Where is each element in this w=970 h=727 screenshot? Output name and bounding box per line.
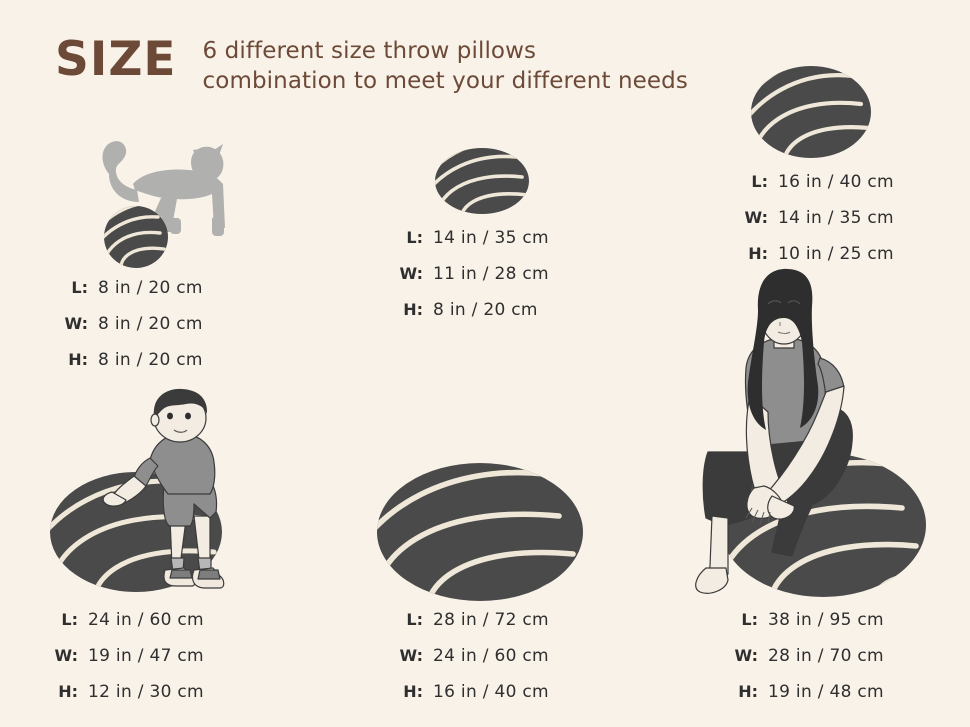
pillow-xl — [375, 460, 590, 605]
specs-xl: L: 28 in / 72 cm W: 24 in / 60 cm H: 16 … — [393, 610, 549, 718]
specs-l: L: 24 in / 60 cm W: 19 in / 47 cm H: 12 … — [48, 610, 204, 718]
spec-value: 8 in / 20 cm — [98, 350, 203, 370]
page-header: SIZE 6 different size throw pillows comb… — [55, 28, 688, 97]
spec-value: 8 in / 20 cm — [433, 300, 538, 320]
specs-xxl: L: 38 in / 95 cm W: 28 in / 70 cm H: 19 … — [728, 610, 884, 718]
specs-s: L: 14 in / 35 cm W: 11 in / 28 cm H: 8 i… — [393, 228, 549, 336]
spec-row: H: 8 in / 20 cm — [393, 300, 549, 320]
spec-row: L: 24 in / 60 cm — [48, 610, 204, 630]
subtitle-line-2: combination to meet your different needs — [203, 66, 688, 96]
pillow-m — [747, 62, 875, 162]
spec-row: W: 14 in / 35 cm — [738, 208, 894, 228]
pillow-xs — [100, 203, 172, 271]
spec-row: W: 28 in / 70 cm — [728, 646, 884, 666]
spec-value: 38 in / 95 cm — [768, 610, 884, 630]
toddler-figure — [110, 400, 235, 595]
spec-row: H: 8 in / 20 cm — [58, 350, 203, 370]
spec-key: L: — [48, 610, 78, 629]
spec-row: L: 14 in / 35 cm — [393, 228, 549, 248]
spec-key: H: — [738, 244, 768, 263]
spec-key: H: — [728, 682, 758, 701]
spec-row: W: 8 in / 20 cm — [58, 314, 203, 334]
spec-key: L: — [393, 228, 423, 247]
spec-key: H: — [393, 682, 423, 701]
spec-row: H: 19 in / 48 cm — [728, 682, 884, 702]
spec-key: W: — [58, 314, 88, 333]
spec-row: H: 10 in / 25 cm — [738, 244, 894, 264]
spec-key: W: — [393, 646, 423, 665]
spec-value: 8 in / 20 cm — [98, 278, 203, 298]
spec-key: W: — [48, 646, 78, 665]
spec-value: 16 in / 40 cm — [778, 172, 894, 192]
spec-key: L: — [728, 610, 758, 629]
spec-value: 10 in / 25 cm — [778, 244, 894, 264]
spec-value: 28 in / 70 cm — [768, 646, 884, 666]
spec-row: W: 11 in / 28 cm — [393, 264, 549, 284]
woman-sitting-figure — [694, 312, 884, 602]
spec-value: 16 in / 40 cm — [433, 682, 549, 702]
spec-key: H: — [48, 682, 78, 701]
spec-row: H: 16 in / 40 cm — [393, 682, 549, 702]
spec-row: L: 16 in / 40 cm — [738, 172, 894, 192]
spec-key: W: — [738, 208, 768, 227]
spec-key: H: — [58, 350, 88, 369]
pillow-s — [432, 145, 532, 217]
spec-value: 28 in / 72 cm — [433, 610, 549, 630]
spec-key: L: — [393, 610, 423, 629]
spec-row: L: 38 in / 95 cm — [728, 610, 884, 630]
spec-row: L: 8 in / 20 cm — [58, 278, 203, 298]
spec-value: 24 in / 60 cm — [433, 646, 549, 666]
spec-value: 19 in / 48 cm — [768, 682, 884, 702]
spec-value: 14 in / 35 cm — [433, 228, 549, 248]
spec-value: 12 in / 30 cm — [88, 682, 204, 702]
spec-value: 11 in / 28 cm — [433, 264, 549, 284]
spec-value: 14 in / 35 cm — [778, 208, 894, 228]
spec-row: L: 28 in / 72 cm — [393, 610, 549, 630]
spec-value: 24 in / 60 cm — [88, 610, 204, 630]
spec-key: L: — [58, 278, 88, 297]
subtitle-line-1: 6 different size throw pillows — [203, 36, 688, 66]
page-title: SIZE — [55, 36, 177, 83]
spec-key: W: — [393, 264, 423, 283]
spec-value: 8 in / 20 cm — [98, 314, 203, 334]
specs-m: L: 16 in / 40 cm W: 14 in / 35 cm H: 10 … — [738, 172, 894, 280]
page-subtitle: 6 different size throw pillows combinati… — [203, 28, 688, 97]
spec-row: W: 19 in / 47 cm — [48, 646, 204, 666]
spec-key: L: — [738, 172, 768, 191]
spec-value: 19 in / 47 cm — [88, 646, 204, 666]
spec-row: H: 12 in / 30 cm — [48, 682, 204, 702]
spec-key: H: — [393, 300, 423, 319]
spec-key: W: — [728, 646, 758, 665]
specs-xs: L: 8 in / 20 cm W: 8 in / 20 cm H: 8 in … — [58, 278, 203, 386]
spec-row: W: 24 in / 60 cm — [393, 646, 549, 666]
